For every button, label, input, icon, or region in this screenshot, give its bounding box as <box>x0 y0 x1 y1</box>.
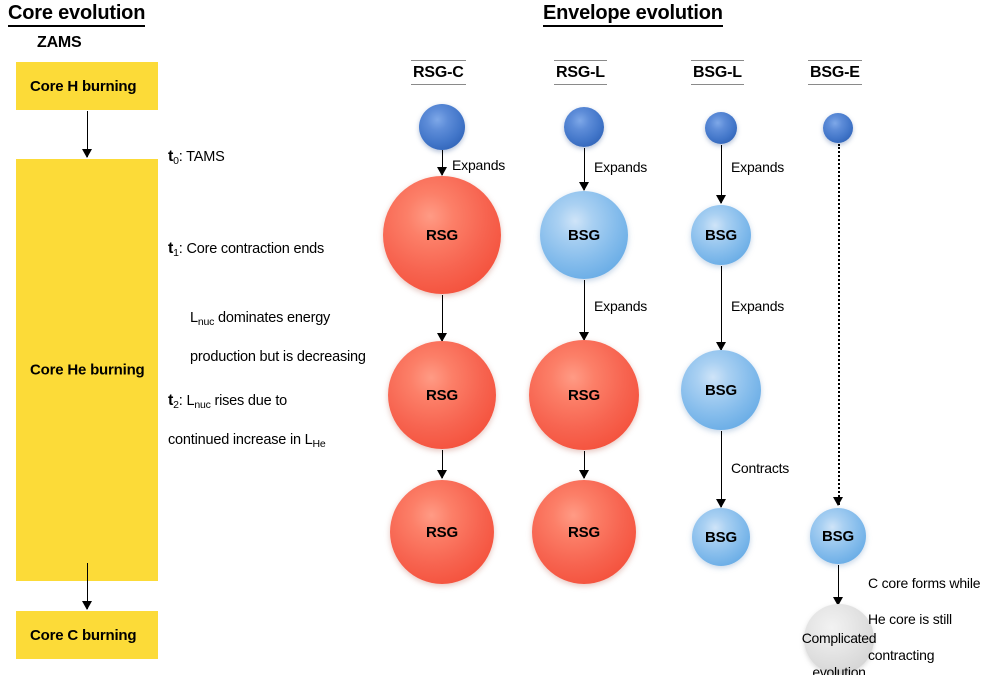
lnuc-subscript: nuc <box>198 316 214 328</box>
t2-subscript: 2 <box>173 399 179 411</box>
complicated-line-1: Complicated <box>802 630 877 646</box>
sphere-label-bsg: BSG <box>705 227 737 244</box>
column-header-bsg-e: BSG-E <box>808 60 862 85</box>
sphere-label-rsg: RSG <box>426 387 458 404</box>
t2-lnuc-subscript: nuc <box>194 399 210 411</box>
t2-text-post: rises due to <box>211 393 287 409</box>
complicated-evolution-label: Complicated evolution <box>789 613 889 675</box>
note-t2: t2: Lnuc rises due to continued increase… <box>168 372 326 451</box>
sphere-rsg-c-stage-1: RSG <box>383 176 501 294</box>
t1-text: : Core contraction ends <box>179 241 324 257</box>
t2-lhe-subscript: He <box>313 438 326 450</box>
sphere-rsg-c-stage-3: RSG <box>390 480 494 584</box>
caption-rsg-l-expands-2: Expands <box>594 298 647 314</box>
lnuc-pre: L <box>190 310 198 326</box>
core-evolution-title: Core evolution <box>8 2 145 27</box>
column-header-rsg-c: RSG-C <box>411 60 466 85</box>
sphere-label-bsg: BSG <box>822 528 854 545</box>
t2-text-pre: : L <box>179 393 195 409</box>
diagram-canvas: Core evolution Envelope evolution ZAMS C… <box>0 0 1000 675</box>
core-h-burning-box: Core H burning <box>16 62 158 110</box>
sphere-bsg-l-stage-3: BSG <box>692 508 750 566</box>
caption-bsg-l-expands-1: Expands <box>731 159 784 175</box>
sphere-label-rsg: RSG <box>426 524 458 541</box>
sphere-rsg-l-stage-2: RSG <box>529 340 639 450</box>
sphere-rsg-l-stage-0 <box>564 107 604 147</box>
sphere-bsg-l-stage-0 <box>705 112 737 144</box>
t2-line2-pre: continued increase in L <box>168 432 313 448</box>
t1-subscript: 1 <box>173 247 179 259</box>
sphere-rsg-l-stage-1: BSG <box>540 191 628 279</box>
envelope-evolution-title: Envelope evolution <box>543 2 723 27</box>
complicated-line-2: evolution <box>812 664 865 675</box>
sphere-label-bsg: BSG <box>568 227 600 244</box>
sphere-rsg-c-stage-0 <box>419 104 465 150</box>
sphere-label-rsg: RSG <box>426 227 458 244</box>
core-c-burning-box: Core C burning <box>16 611 158 659</box>
sphere-bsg-l-stage-1: BSG <box>691 205 751 265</box>
caption-bsg-l-contracts: Contracts <box>731 460 789 476</box>
c-core-note-line-1: C core forms while <box>868 575 980 591</box>
core-h-burning-label: Core H burning <box>16 78 136 95</box>
lnuc-line2: production but is decreasing <box>190 349 366 365</box>
sphere-label-rsg: RSG <box>568 387 600 404</box>
note-lnuc: Lnuc dominates energy production but is … <box>190 290 366 367</box>
caption-bsg-l-expands-2: Expands <box>731 298 784 314</box>
sphere-rsg-c-stage-2: RSG <box>388 341 496 449</box>
sphere-label-bsg: BSG <box>705 529 737 546</box>
t0-subscript: 0 <box>173 155 179 167</box>
sphere-rsg-l-stage-3: RSG <box>532 480 636 584</box>
sphere-bsg-l-stage-2: BSG <box>681 350 761 430</box>
core-he-burning-label: Core He burning <box>16 362 145 379</box>
column-header-rsg-l: RSG-L <box>554 60 607 85</box>
caption-rsg-l-expands-1: Expands <box>594 159 647 175</box>
core-he-burning-box: Core He burning <box>16 159 158 581</box>
sphere-label-bsg: BSG <box>705 382 737 399</box>
zams-label: ZAMS <box>37 34 82 52</box>
note-t0: t0: TAMS <box>168 128 225 168</box>
caption-rsg-c-expands-1: Expands <box>452 157 505 173</box>
sphere-bsg-e-stage-0 <box>823 113 853 143</box>
note-t1: t1: Core contraction ends <box>168 220 324 260</box>
sphere-label-rsg: RSG <box>568 524 600 541</box>
t0-text: : TAMS <box>179 149 225 165</box>
column-header-bsg-l: BSG-L <box>691 60 744 85</box>
lnuc-post: dominates energy <box>214 310 330 326</box>
sphere-bsg-e-stage-1: BSG <box>810 508 866 564</box>
core-c-burning-label: Core C burning <box>16 627 136 644</box>
